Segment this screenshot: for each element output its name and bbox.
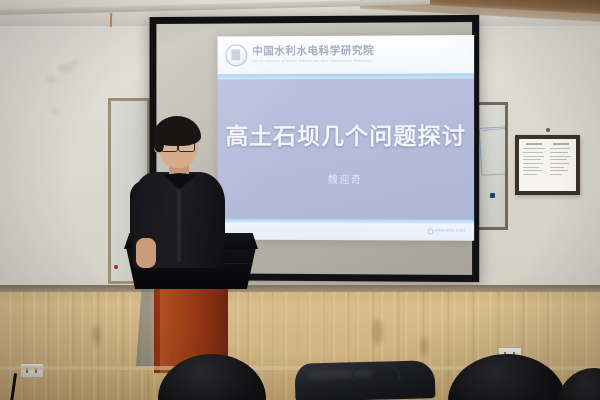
lectern-side-panel [136, 283, 156, 367]
document-column-right [550, 143, 573, 187]
presentation-slide: 中国水利水电科学研究院 China Institute of Water Res… [218, 35, 475, 241]
document-heading [526, 143, 542, 145]
laptop-bag [295, 360, 436, 400]
shirt-button [178, 236, 181, 239]
organization-block: 中国水利水电科学研究院 China Institute of Water Res… [252, 46, 374, 64]
document-column-left [523, 143, 546, 187]
shirt-button [178, 204, 181, 207]
presenter-arm [136, 238, 156, 268]
conference-photo: 中国水利水电科学研究院 China Institute of Water Res… [0, 0, 600, 400]
framed-document [515, 135, 580, 195]
slide-website-url: www.iwhr.com [434, 227, 465, 232]
organization-name-en: China Institute of Water Resources and H… [252, 60, 374, 64]
bag-handle [351, 363, 401, 380]
sketch-box-icon [479, 126, 508, 176]
frame-nail [546, 128, 550, 132]
presenter-hair-side [153, 128, 164, 152]
institute-seal-icon [225, 44, 247, 66]
slide-presenter-name: 魏迎奇 [218, 171, 475, 186]
document-heading [553, 143, 569, 145]
lectern-base-highlight [160, 287, 174, 373]
presenter-person [120, 120, 240, 280]
wood-knot [372, 319, 383, 345]
wood-knot [420, 337, 428, 355]
whiteboard-left-magnet [114, 265, 118, 269]
wall-smudge [70, 60, 79, 66]
wall-smudge [46, 76, 57, 83]
wood-knot [92, 325, 101, 345]
slide-header: 中国水利水电科学研究院 China Institute of Water Res… [218, 35, 475, 74]
shirt-button [178, 220, 181, 223]
presenter-shirt-placket [177, 186, 181, 262]
slide-body: 高土石坝几个问题探讨 魏迎奇 [218, 78, 475, 219]
wall-smudge [50, 108, 60, 115]
whiteboard-right-magnet [490, 193, 495, 198]
organization-name-cn: 中国水利水电科学研究院 [252, 46, 374, 57]
slide-title: 高土石坝几个问题探讨 [218, 117, 475, 151]
